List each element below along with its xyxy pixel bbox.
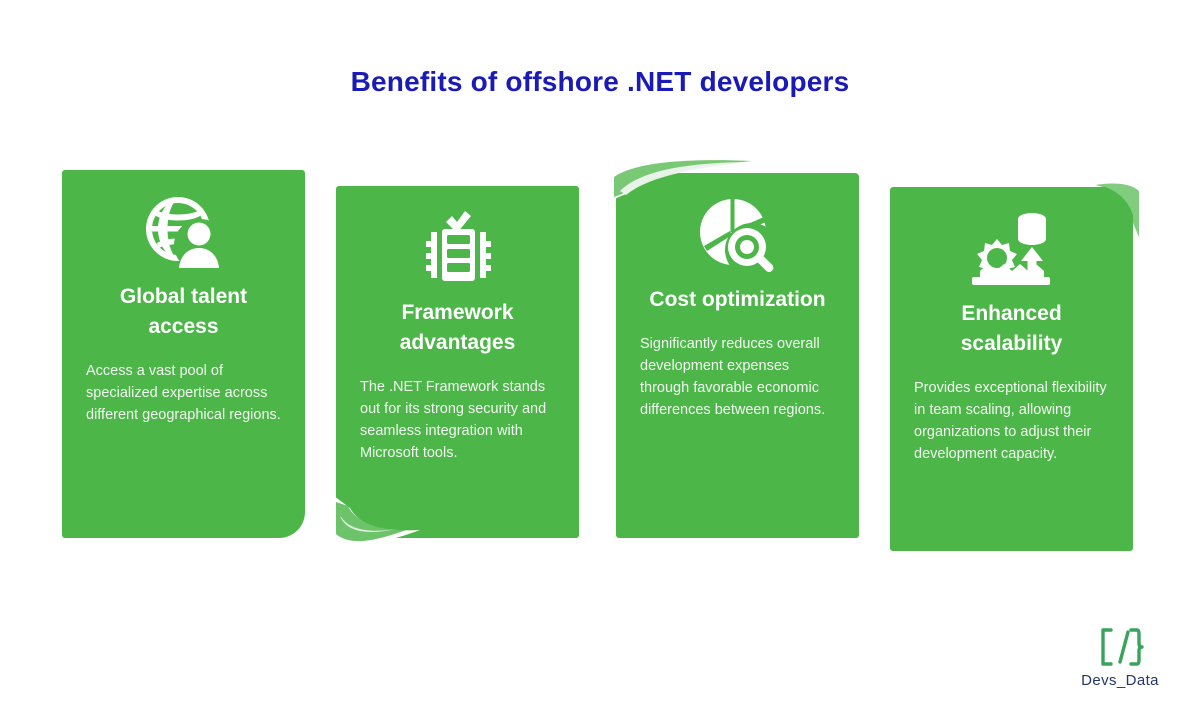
card-heading: Enhanced scalability: [912, 299, 1111, 359]
card-heading: Framework advantages: [358, 298, 557, 358]
infographic-canvas: Benefits of offshore .NET developers: [0, 0, 1200, 706]
card-body-text: Access a vast pool of specialized expert…: [84, 360, 283, 426]
card-body-text: Provides exceptional flexibility in team…: [912, 377, 1111, 465]
card-body-text: Significantly reduces overall developmen…: [638, 333, 837, 421]
brand-logo[interactable]: Devs_Data: [1060, 626, 1180, 689]
pie-chart-magnifier-icon: [638, 173, 837, 281]
card-body-text: The .NET Framework stands out for its st…: [358, 376, 557, 464]
brand-name: Devs_Data: [1060, 672, 1180, 689]
benefit-card-enhanced-scalability[interactable]: Enhanced scalability Provides exceptiona…: [890, 187, 1133, 551]
benefit-card-framework-advantages[interactable]: Framework advantages The .NET Framework …: [336, 186, 579, 538]
card-heading: Global talent access: [84, 282, 283, 342]
gears-scaling-arrow-icon: [912, 187, 1111, 295]
server-checklist-icon: [358, 186, 557, 294]
benefit-card-cost-optimization[interactable]: Cost optimization Significantly reduces …: [616, 173, 859, 538]
benefit-card-global-talent-access[interactable]: Global talent access Access a vast pool …: [62, 170, 305, 538]
card-heading: Cost optimization: [638, 285, 837, 315]
benefit-cards-row: Global talent access Access a vast pool …: [0, 0, 1200, 706]
corner-curl-bottom-left: [334, 496, 420, 552]
globe-person-icon: [84, 170, 283, 278]
code-brackets-icon: [1060, 626, 1180, 670]
